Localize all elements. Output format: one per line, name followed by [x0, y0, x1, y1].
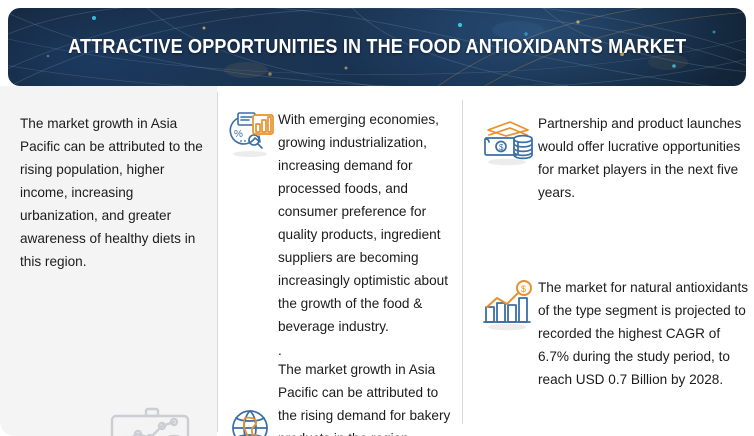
insight-text-money: Partnership and product launches would o…	[538, 112, 750, 204]
insight-block-globe: . T	[226, 344, 456, 436]
infographic-root: ATTRACTIVE OPPORTUNITIES IN THE FOOD ANT…	[0, 0, 754, 436]
svg-text:$: $	[499, 143, 504, 152]
globe-icon	[226, 406, 276, 436]
svg-text:%: %	[234, 129, 243, 140]
market-analysis-icon-wrap: %	[226, 108, 276, 162]
left-panel-paragraph: The market growth in Asia Pacific can be…	[20, 112, 206, 273]
market-analysis-icon: %	[226, 108, 276, 162]
money-icon-wrap: $	[480, 114, 536, 170]
growth-icon-wrap: $	[480, 278, 536, 334]
column-divider-left	[217, 92, 218, 432]
page-title: ATTRACTIVE OPPORTUNITIES IN THE FOOD ANT…	[8, 35, 746, 59]
svg-text:$: $	[521, 284, 526, 294]
insight-text-growth: The market for natural antioxidants of t…	[538, 276, 750, 391]
page-title-text: ATTRACTIVE OPPORTUNITIES IN THE FOOD ANT…	[68, 35, 686, 59]
left-panel: The market growth in Asia Pacific can be…	[0, 86, 217, 436]
right-column: $ Partnership and product launches would…	[480, 112, 750, 391]
insight-block-money: $ Partnership and product launches would…	[480, 112, 750, 204]
presentation-chart-magnifier-icon	[104, 398, 208, 436]
insight-text-market-analysis: With emerging economies, growing industr…	[278, 108, 456, 338]
insight-block-market-analysis: %	[226, 108, 456, 338]
column-divider-right	[462, 100, 463, 424]
insight-block-growth: $ The market for natural antioxidants of…	[480, 276, 750, 391]
header-banner: ATTRACTIVE OPPORTUNITIES IN THE FOOD ANT…	[8, 8, 746, 86]
growth-chart-dollar-icon: $	[480, 278, 536, 334]
middle-column: %	[226, 108, 456, 436]
money-cash-coins-icon: $	[480, 114, 536, 170]
globe-icon-wrap	[226, 406, 276, 436]
insight-text-globe: The market growth in Asia Pacific can be…	[278, 358, 456, 436]
paragraph-separator: .	[278, 344, 456, 358]
